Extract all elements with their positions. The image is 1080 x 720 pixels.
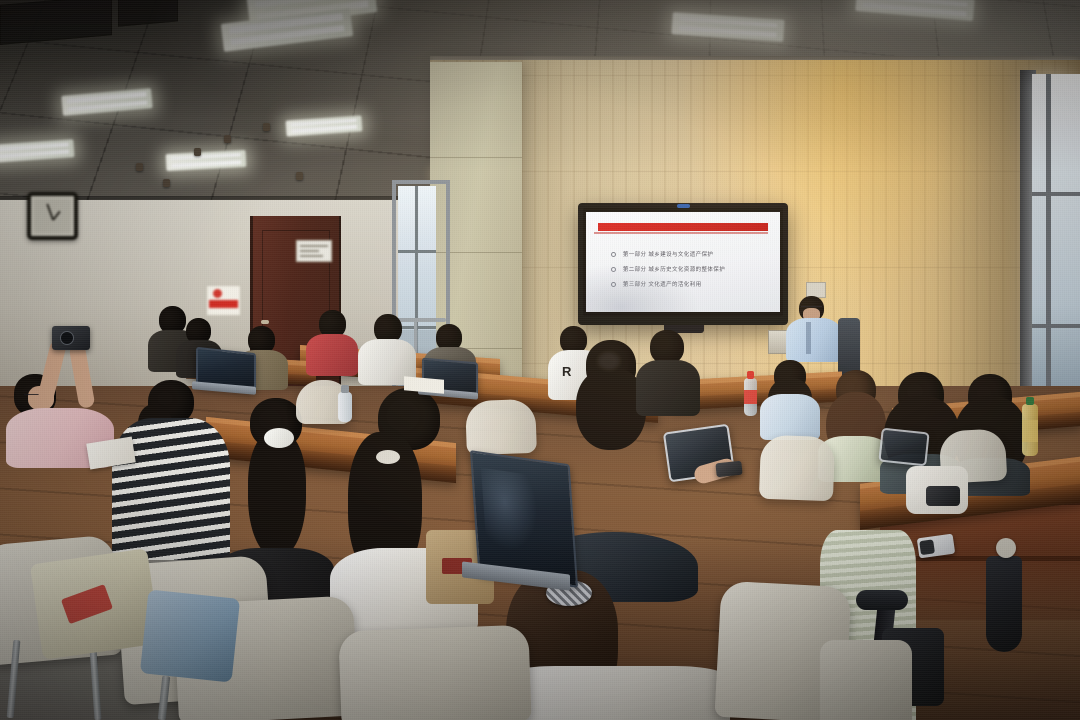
wall-notice-sign bbox=[206, 285, 241, 316]
phone-camera[interactable] bbox=[52, 326, 90, 350]
chair-mid-center[interactable] bbox=[465, 399, 537, 455]
camera-lens-icon bbox=[60, 331, 74, 345]
chair-arm-right[interactable] bbox=[820, 640, 912, 720]
luggage-grip[interactable] bbox=[856, 590, 908, 610]
hair-scrunchie bbox=[264, 428, 294, 448]
attendee-back-5 bbox=[358, 314, 418, 384]
presenter-torso bbox=[786, 318, 842, 362]
tablet-right[interactable] bbox=[878, 428, 929, 467]
bag-logo bbox=[61, 584, 113, 624]
phone-on-desk-2[interactable] bbox=[715, 461, 742, 478]
chair-front-center[interactable] bbox=[338, 625, 531, 720]
attendee-tablet-user bbox=[636, 330, 702, 416]
attendee-blue-top bbox=[760, 360, 822, 440]
laptop-screen-content bbox=[481, 468, 540, 555]
photo-scene: 第一部分 城乡建设与文化遗产保护 第二部分 城乡历史文化资源的整体保护 第三部分… bbox=[0, 0, 1080, 720]
hanging-bag bbox=[986, 556, 1022, 652]
cup-back-left[interactable] bbox=[338, 392, 352, 422]
slide-bullet-1: 第一部分 城乡建设与文化遗产保护 bbox=[623, 250, 713, 258]
slide-accent-line bbox=[594, 232, 769, 234]
presenter-side-figure bbox=[838, 318, 860, 376]
chair-mid-right[interactable] bbox=[759, 435, 835, 502]
white-top bbox=[500, 666, 730, 720]
presentation-display[interactable]: 第一部分 城乡建设与文化遗产保护 第二部分 城乡历史文化资源的整体保护 第三部分… bbox=[578, 203, 788, 325]
raised-arm-right bbox=[69, 343, 96, 409]
cream-bag-on-chair bbox=[30, 548, 160, 659]
water-bottle-center[interactable] bbox=[744, 378, 757, 416]
attendee-striped-shirt bbox=[112, 380, 232, 560]
blue-jacket-on-chair bbox=[140, 589, 240, 682]
door-sign bbox=[296, 240, 332, 262]
hair-tie bbox=[376, 450, 400, 464]
window-right bbox=[1032, 74, 1080, 404]
tea-bottle-right[interactable] bbox=[1022, 404, 1038, 456]
shirt-placket bbox=[806, 322, 811, 354]
wall-clock bbox=[27, 192, 78, 240]
attendee-back-4 bbox=[306, 310, 360, 374]
dark-case-on-desk bbox=[926, 486, 960, 506]
slide-content: 第一部分 城乡建设与文化遗产保护 第二部分 城乡历史文化资源的整体保护 第三部分… bbox=[586, 212, 780, 312]
phone-camera-module bbox=[919, 539, 935, 555]
slide-accent-bar bbox=[598, 223, 769, 231]
attendee-white-jacket bbox=[330, 388, 480, 628]
bag-charm bbox=[996, 538, 1016, 558]
presenter bbox=[786, 296, 846, 362]
